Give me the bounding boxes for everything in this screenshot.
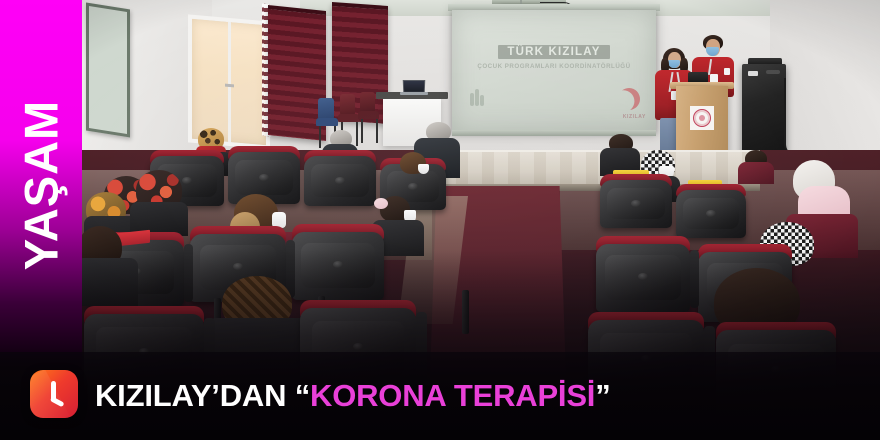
theater-seat [304, 156, 376, 206]
audience-shoulders [738, 162, 774, 184]
wall-picture-frame [86, 3, 130, 138]
chair-leg [319, 126, 321, 148]
chair-leg [376, 119, 378, 143]
speaker-cable [784, 78, 794, 154]
theater-seat [676, 190, 746, 238]
headline-bar: KIZILAY’DAN “KORONA TERAPİSİ” [0, 352, 880, 440]
slide-subtitle: ÇOCUK PROGRAMLARI KOORDİNATÖRLÜĞÜ [452, 63, 656, 70]
stacked-chair-blue [318, 98, 334, 120]
seat-leg [462, 290, 469, 334]
audience-torso [76, 258, 138, 306]
headline-highlight: KORONA TERAPİSİ [310, 378, 595, 413]
kizilay-patch [724, 68, 730, 75]
clock-icon[interactable] [30, 370, 78, 418]
laptop-screen [403, 80, 426, 93]
headline-quote-open: “ [295, 378, 310, 413]
ministry-logo-icon [468, 92, 486, 112]
headline-quote-close: ” [595, 378, 610, 413]
slide-title-text: TÜRK KIZILAY [498, 45, 609, 59]
stacked-chair-maroon-2 [360, 92, 375, 113]
stacked-chair-blue-seat [316, 118, 338, 126]
headline-part-1: KIZILAY’DAN [95, 378, 295, 413]
chair-leg [356, 122, 358, 146]
category-tag-label: YAŞAM [18, 100, 65, 270]
seat-armrest [690, 250, 699, 308]
laptop-base [400, 92, 428, 95]
red-circular-emblem [693, 109, 711, 127]
theater-seat [596, 244, 690, 312]
projection-screen: TÜRK KIZILAY ÇOCUK PROGRAMLARI KOORDİNAT… [452, 10, 656, 132]
hair-clip [374, 198, 388, 209]
loudspeaker-cabinet [742, 64, 786, 156]
seat-armrest [184, 244, 193, 302]
theater-seat [292, 232, 384, 300]
screenshot-root: TÜRK KIZILAY ÇOCUK PROGRAMLARI KOORDİNAT… [0, 0, 880, 440]
stacked-chair-maroon-1-seat [338, 114, 359, 122]
headline-text: KIZILAY’DAN “KORONA TERAPİSİ” [95, 378, 611, 414]
theater-seat [600, 180, 672, 228]
stacked-chair-maroon-2-seat [358, 111, 379, 119]
category-tag[interactable]: YAŞAM [0, 0, 82, 370]
slide-title: TÜRK KIZILAY [452, 46, 656, 58]
chair-leg [361, 119, 363, 143]
stacked-chair-maroon-1 [340, 94, 355, 116]
podium-plaque [690, 106, 714, 130]
window-left [188, 14, 270, 149]
crescent-caption: KIZILAY [623, 114, 646, 120]
red-crescent-icon [615, 85, 644, 114]
